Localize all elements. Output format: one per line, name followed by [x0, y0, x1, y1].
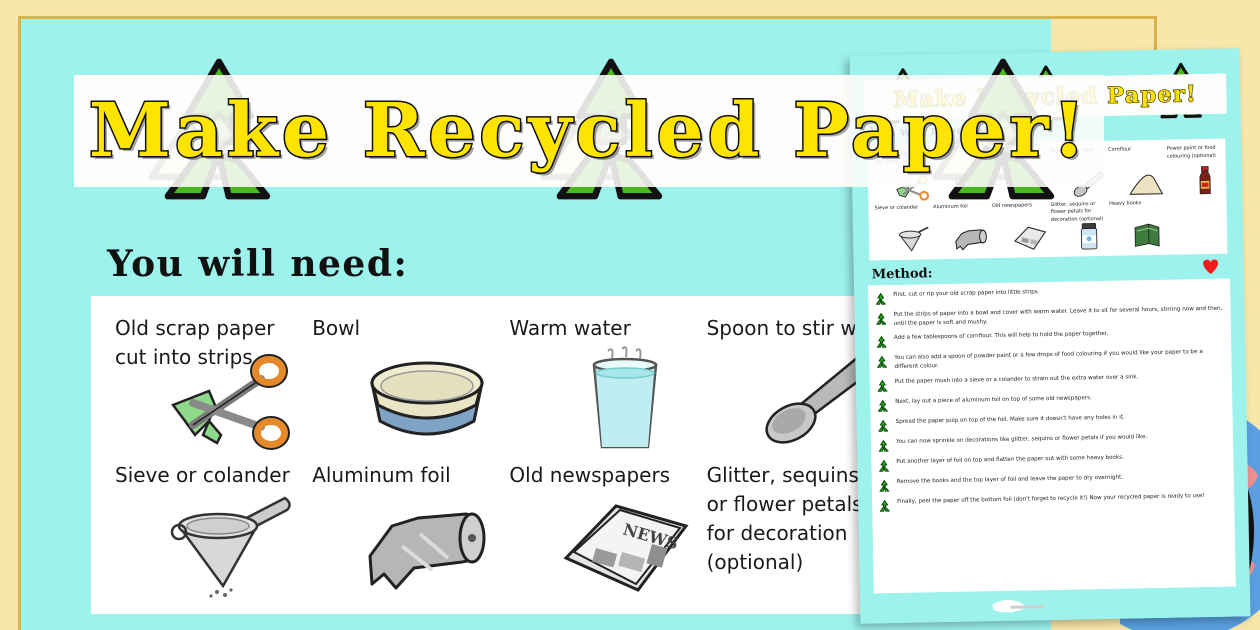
- method-step: Next, lay out a piece of aluminum foil o…: [876, 391, 1224, 412]
- preview-material-item: Sieve or colander: [871, 202, 931, 257]
- material-label: Warm water: [509, 314, 686, 343]
- recycle-icon: [877, 459, 890, 472]
- you-will-need-heading: You will need:: [107, 243, 408, 285]
- material-item: Old scrap paper cut into strips: [105, 308, 302, 455]
- material-item: Sieve or colander: [105, 455, 302, 602]
- foil-roll-icon: [954, 223, 989, 254]
- method-step-text: Next, lay out a piece of aluminum foil o…: [895, 394, 1092, 406]
- method-step-text: Put the paper mush into a sieve or a col…: [895, 373, 1139, 386]
- method-step-text: First, cut or rip your old scrap paper i…: [893, 288, 1039, 299]
- paint-bottle-icon: [1188, 165, 1223, 196]
- recycle-icon: [875, 312, 888, 325]
- scissors-paper-icon: [164, 343, 296, 453]
- material-label: Bowl: [312, 314, 489, 343]
- material-item: Warm water: [499, 308, 696, 455]
- method-step: Remove the books and the top layer of fo…: [878, 471, 1226, 492]
- material-label: Sieve or colander: [115, 461, 292, 490]
- preview-material-item: Cornflour: [1105, 144, 1165, 199]
- preview-material-item: Heavy books: [1106, 197, 1166, 252]
- recycle-icon: [875, 335, 888, 348]
- method-step: You can now sprinkle on decorations like…: [877, 431, 1225, 452]
- preview-material-label: Power paint or food colouring (optional): [1167, 145, 1220, 161]
- material-label: Old newspapers: [509, 461, 686, 490]
- poster-title-banner: Make Recycled Paper!: [74, 75, 1104, 187]
- material-item: Aluminum foil: [302, 455, 499, 602]
- bowl-icon: [361, 343, 493, 453]
- method-step: Finally, peel the paper off the bottom f…: [878, 491, 1226, 512]
- method-step: Put the paper mush into a sieve or a col…: [876, 371, 1224, 392]
- sieve-icon: [164, 490, 296, 600]
- method-step-text: Remove the books and the top layer of fo…: [897, 473, 1123, 486]
- recycle-icon: [876, 399, 889, 412]
- glitter-jar-icon: [1071, 221, 1106, 252]
- preview-material-label: Heavy books: [1109, 199, 1162, 208]
- method-step-text: Add a few tablespoons of cornflour. This…: [894, 330, 1108, 343]
- brand-logo: [988, 596, 1058, 615]
- recycle-icon: [877, 439, 890, 452]
- sieve-icon: [895, 224, 930, 255]
- method-step-text: You can also add a spoon of powder paint…: [894, 348, 1223, 372]
- method-step: Put the strips of paper into a bowl and …: [874, 305, 1222, 329]
- heart-icon[interactable]: [1200, 257, 1222, 275]
- preview-material-item: Power paint or food colouring (optional): [1164, 143, 1224, 198]
- method-step-text: Put another layer of foil on top and fla…: [896, 453, 1124, 466]
- recycle-icon: [878, 479, 891, 492]
- preview-method-heading: Method:: [872, 266, 933, 282]
- preview-material-label: Sieve or colander: [874, 204, 927, 213]
- recycle-icon: [878, 499, 891, 512]
- newspapers-icon: [1013, 222, 1048, 253]
- flour-pile-icon: [1129, 166, 1164, 197]
- page-title: Make Recycled Paper!: [89, 88, 1089, 174]
- method-step: First, cut or rip your old scrap paper i…: [874, 285, 1222, 306]
- method-step: Put another layer of foil on top and fla…: [877, 451, 1225, 472]
- recycle-icon: [877, 419, 890, 432]
- recycle-icon: [876, 379, 889, 392]
- method-step-text: Finally, peel the paper off the bottom f…: [897, 492, 1205, 507]
- preview-material-label: Cornflour: [1108, 146, 1161, 155]
- method-step-text: Put the strips of paper into a bowl and …: [893, 305, 1222, 329]
- method-step: Add a few tablespoons of cornflour. This…: [875, 328, 1223, 349]
- recycle-icon: [874, 292, 887, 305]
- material-item: Old newspapers NEWS: [499, 455, 696, 602]
- books-icon: [1130, 220, 1165, 251]
- method-step: You can also add a spoon of powder paint…: [875, 348, 1223, 372]
- material-item: Bowl: [302, 308, 499, 455]
- preview-method-list: First, cut or rip your old scrap paper i…: [868, 279, 1236, 598]
- material-label: Aluminum foil: [312, 461, 489, 490]
- foil-roll-icon: [361, 490, 493, 600]
- glass-water-icon: [559, 343, 691, 453]
- newspapers-icon: NEWS: [559, 490, 691, 600]
- method-step: Spread the paper pulp on top of the foil…: [877, 411, 1225, 432]
- method-step-text: Spread the paper pulp on top of the foil…: [896, 413, 1125, 426]
- method-step-text: You can now sprinkle on decorations like…: [896, 433, 1147, 446]
- recycle-icon: [875, 355, 888, 368]
